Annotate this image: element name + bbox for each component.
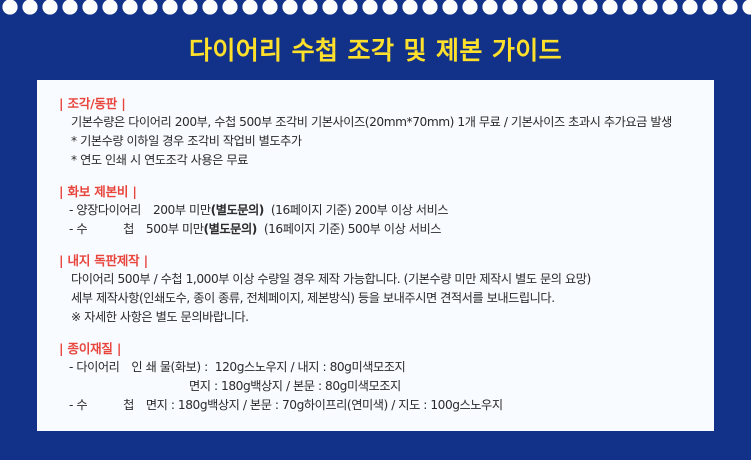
paper-row-diary-sub: 면지 : 180g백상지 / 본문 : 80g미색모조지 bbox=[59, 377, 694, 396]
binding-row-diary-post: (16페이지 기준) 200부 이상 서비스 bbox=[271, 203, 448, 217]
section-paper-material: | 종이재질 | - 다이어리인 쇄 물(화보) :120g스노우지 / 내지 … bbox=[59, 339, 694, 415]
custom-inner-line-2: 세부 제작사항(인쇄도수, 종이 종류, 전체페이지, 제본방식) 등을 보내주… bbox=[59, 289, 694, 308]
section-heading-paper-material: | 종이재질 | bbox=[59, 339, 694, 358]
bottom-white-strip bbox=[0, 460, 751, 473]
section-custom-inner: | 내지 독판제작 | 다이어리 500부 / 수첩 1,000부 이상 수량일… bbox=[59, 251, 694, 327]
paper-row-note-label-a: - 수 bbox=[69, 398, 87, 412]
paper-row-note-label-b: 첩 bbox=[123, 398, 134, 412]
binding-row-diary-label: - 양장다이어리 bbox=[69, 203, 141, 217]
binding-row-note-pre: 500부 미만 bbox=[146, 222, 204, 236]
section-engraving: | 조각/동판 | 기본수량은 다이어리 200부, 수첩 500부 조각비 기… bbox=[59, 94, 694, 170]
section-binding-cost: | 화보 제본비 | - 양장다이어리200부 미만(별도문의)(16페이지 기… bbox=[59, 182, 694, 239]
paper-row-diary-label-b: 인 쇄 물(화보) : bbox=[131, 360, 207, 374]
binding-row-note-label-b: 첩 bbox=[123, 222, 134, 236]
guide-content-card: | 조각/동판 | 기본수량은 다이어리 200부, 수첩 500부 조각비 기… bbox=[37, 80, 714, 431]
paper-row-diary-label-a: - 다이어리 bbox=[69, 360, 119, 374]
binding-row-diary: - 양장다이어리200부 미만(별도문의)(16페이지 기준) 200부 이상 … bbox=[59, 201, 694, 220]
paper-row-note-value: 면지 : 180g백상지 / 본문 : 70g하이프리(연미색) / 지도 : … bbox=[146, 398, 503, 412]
section-heading-binding-cost: | 화보 제본비 | bbox=[59, 182, 694, 201]
guide-poster: 다이어리 수첩 조각 및 제본 가이드 | 조각/동판 | 기본수량은 다이어리… bbox=[0, 0, 751, 460]
binding-row-diary-bold: (별도문의) bbox=[211, 203, 264, 217]
engraving-line-1: 기본수량은 다이어리 200부, 수첩 500부 조각비 기본사이즈(20mm*… bbox=[59, 113, 694, 132]
binding-row-note-bold: (별도문의) bbox=[204, 222, 257, 236]
paper-row-diary: - 다이어리인 쇄 물(화보) :120g스노우지 / 내지 : 80g미색모조… bbox=[59, 358, 694, 377]
scalloped-top-edge bbox=[0, 0, 751, 23]
engraving-line-2: * 기본수량 이하일 경우 조각비 작업비 별도추가 bbox=[59, 132, 694, 151]
engraving-line-3: * 연도 인쇄 시 연도조각 사용은 무료 bbox=[59, 151, 694, 170]
page-title: 다이어리 수첩 조각 및 제본 가이드 bbox=[0, 36, 751, 66]
binding-row-note: - 수첩500부 미만(별도문의)(16페이지 기준) 500부 이상 서비스 bbox=[59, 220, 694, 239]
paper-row-note: - 수첩면지 : 180g백상지 / 본문 : 70g하이프리(연미색) / 지… bbox=[59, 396, 694, 415]
binding-row-note-label-a: - 수 bbox=[69, 222, 87, 236]
paper-row-diary-value: 120g스노우지 / 내지 : 80g미색모조지 bbox=[215, 360, 406, 374]
section-heading-custom-inner: | 내지 독판제작 | bbox=[59, 251, 694, 270]
custom-inner-line-1: 다이어리 500부 / 수첩 1,000부 이상 수량일 경우 제작 가능합니다… bbox=[59, 270, 694, 289]
custom-inner-line-3: ※ 자세한 사항은 별도 문의바랍니다. bbox=[59, 308, 694, 327]
section-heading-engraving: | 조각/동판 | bbox=[59, 94, 694, 113]
binding-row-note-post: (16페이지 기준) 500부 이상 서비스 bbox=[264, 222, 441, 236]
binding-row-diary-pre: 200부 미만 bbox=[153, 203, 211, 217]
